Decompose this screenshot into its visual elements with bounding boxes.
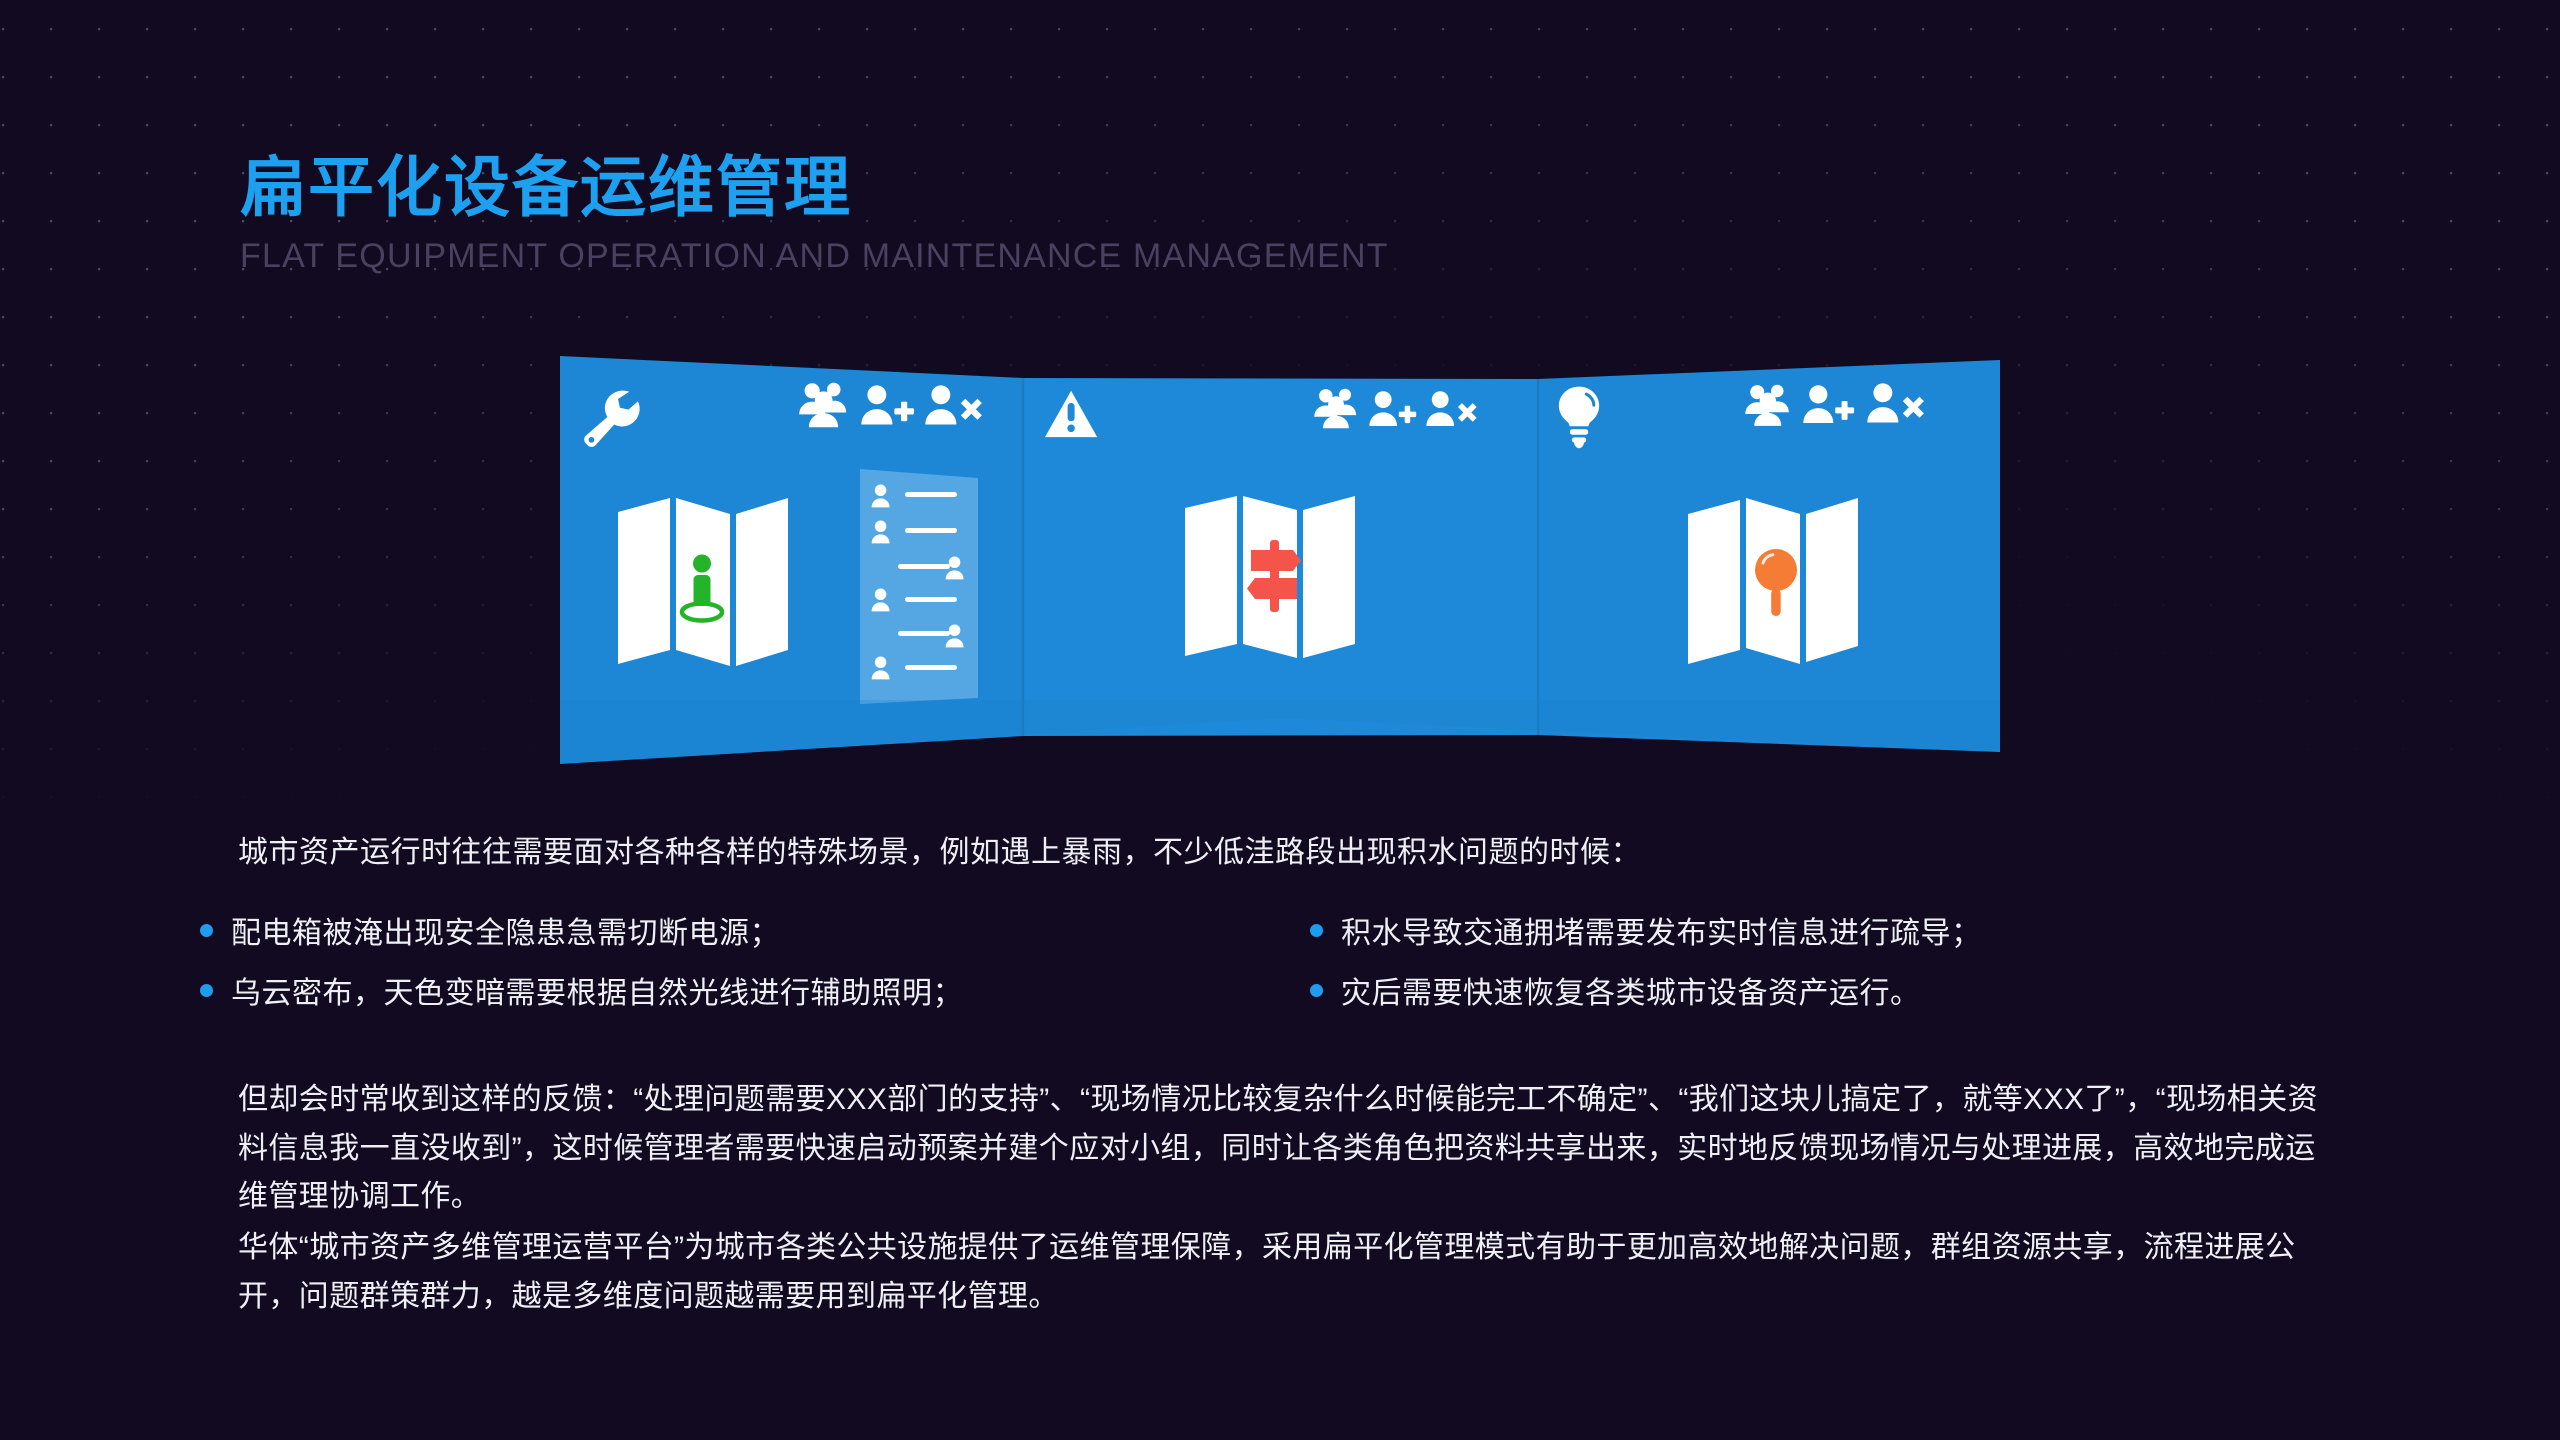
map-dispatch-icon xyxy=(618,498,788,666)
intro-paragraph: 城市资产运行时往往需要面对各种各样的特殊场景，例如遇上暴雨，不少低洼路段出现积水… xyxy=(238,830,2560,875)
screen-bottom-shade xyxy=(560,700,2000,772)
list-item: 灾后需要快速恢复各类城市设备资产运行。 xyxy=(1310,971,2370,1017)
bullet-column-left: 配电箱被淹出现安全隐患急需切断电源； 乌云密布，天色变暗需要根据自然光线进行辅助… xyxy=(200,911,1310,1030)
closing-paragraph-2: 华体“城市资产多维管理运营平台”为城市各类公共设施提供了运维管理保障，采用扁平化… xyxy=(238,1224,2318,1321)
map-insight-icon xyxy=(1688,498,1858,664)
list-item: 配电箱被淹出现安全隐患急需切断电源； xyxy=(200,911,1310,957)
list-item-label: 乌云密布，天色变暗需要根据自然光线进行辅助照明； xyxy=(231,971,963,1017)
body-copy: 城市资产运行时往往需要面对各种各样的特殊场景，例如遇上暴雨，不少低洼路段出现积水… xyxy=(0,830,2560,1321)
hero-banner xyxy=(560,348,2000,772)
bullet-dot-icon xyxy=(1310,984,1323,997)
page-title: 扁平化设备运维管理 xyxy=(240,152,1389,223)
header: 扁平化设备运维管理 FLAT EQUIPMENT OPERATION AND M… xyxy=(240,152,1389,276)
bullet-dot-icon xyxy=(1310,924,1323,937)
closing-paragraph-1: 但却会时常收到这样的反馈：“处理问题需要XXX部门的支持”、“现场情况比较复杂什… xyxy=(238,1076,2318,1222)
list-item: 积水导致交通拥堵需要发布实时信息进行疏导； xyxy=(1310,911,2370,957)
list-item-label: 积水导致交通拥堵需要发布实时信息进行疏导； xyxy=(1341,911,1982,957)
list-item-label: 配电箱被淹出现安全隐患急需切断电源； xyxy=(231,911,780,957)
bullet-column-right: 积水导致交通拥堵需要发布实时信息进行疏导； 灾后需要快速恢复各类城市设备资产运行… xyxy=(1310,911,2370,1030)
list-item: 乌云密布，天色变暗需要根据自然光线进行辅助照明； xyxy=(200,971,1310,1017)
map-alert-icon xyxy=(1185,496,1355,658)
list-item-label: 灾后需要快速恢复各类城市设备资产运行。 xyxy=(1341,971,1921,1017)
map-fold-right xyxy=(1806,498,1858,662)
closing-block: 但却会时常收到这样的反馈：“处理问题需要XXX部门的支持”、“现场情况比较复杂什… xyxy=(238,1076,2318,1321)
roster-card[interactable] xyxy=(860,469,978,704)
map-fold-right xyxy=(736,498,788,666)
bullet-dot-icon xyxy=(200,984,213,997)
map-fold-right xyxy=(1303,496,1355,658)
map-fold-left xyxy=(1688,500,1740,664)
page-subtitle: FLAT EQUIPMENT OPERATION AND MAINTENANCE… xyxy=(240,237,1389,276)
map-fold-left xyxy=(618,498,670,664)
map-fold-left xyxy=(1185,496,1237,656)
bullet-dot-icon xyxy=(200,924,213,937)
bullet-columns: 配电箱被淹出现安全隐患急需切断电源； 乌云密布，天色变暗需要根据自然光线进行辅助… xyxy=(0,911,2560,1030)
